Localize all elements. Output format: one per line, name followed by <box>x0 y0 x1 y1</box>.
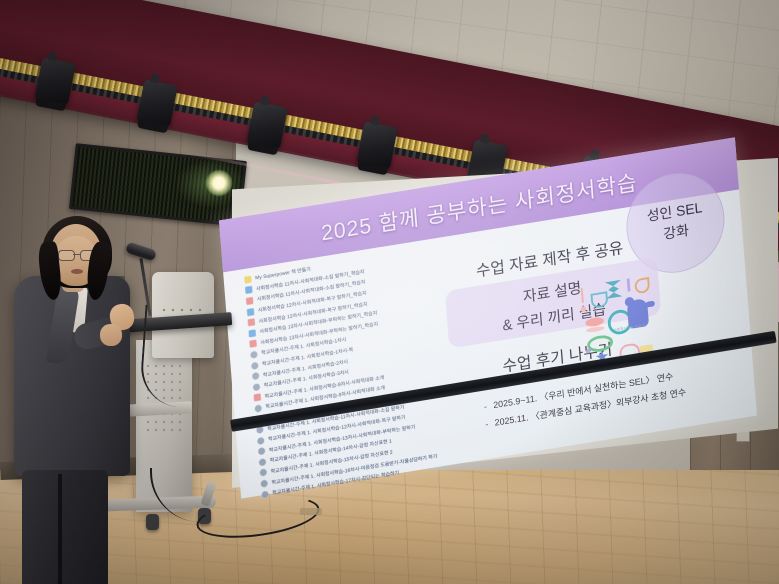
badge-line-2: 강화 <box>663 221 690 245</box>
file-icon <box>254 404 262 413</box>
glasses-bridge <box>73 254 80 255</box>
file-icon <box>248 329 256 338</box>
file-icon <box>252 372 260 381</box>
file-icon <box>245 286 253 295</box>
file-icon <box>247 318 255 327</box>
file-icon <box>247 307 255 316</box>
file-icon <box>246 297 254 306</box>
bullet-dash: - <box>485 416 489 434</box>
file-icon <box>253 393 261 402</box>
file-icon <box>251 361 259 370</box>
file-icon <box>258 447 266 456</box>
floor-socket-plate <box>300 508 322 515</box>
exit-sign-light <box>206 170 232 196</box>
file-icon <box>253 383 261 392</box>
trousers <box>22 470 108 584</box>
trouser-seam <box>58 474 62 584</box>
file-icon <box>260 479 268 488</box>
hand-left <box>100 324 122 346</box>
file-icon <box>257 436 265 445</box>
file-icon <box>244 275 252 284</box>
mouth <box>71 269 83 274</box>
file-icon <box>249 340 257 349</box>
caster-wheel-icon <box>146 514 159 530</box>
file-icon <box>259 469 267 478</box>
bullet-dash: - <box>483 399 487 417</box>
presentation-photo-scene: 2025 함께 공부하는 사회정서학습 성인 SEL 강화 My Superpo… <box>0 0 779 584</box>
lens-left <box>58 250 75 261</box>
file-icon <box>250 350 258 359</box>
file-icon <box>259 458 267 467</box>
projection-screen: 2025 함께 공부하는 사회정서학습 성인 SEL 강화 My Superpo… <box>232 158 778 488</box>
